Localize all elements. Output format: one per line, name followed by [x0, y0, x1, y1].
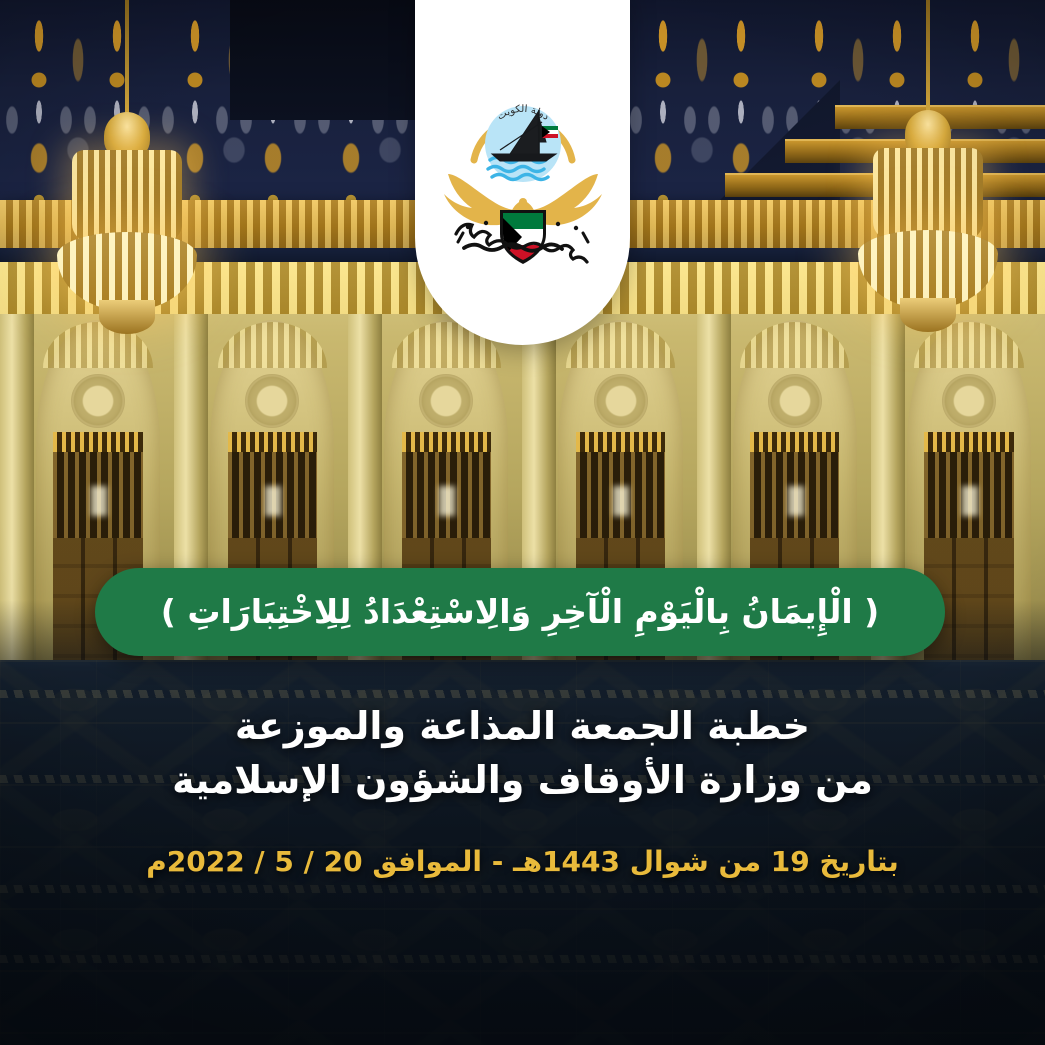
kuwait-state-emblem: دولة الكويت [438, 82, 608, 272]
emblem-banner: دولة الكويت [415, 0, 630, 345]
sermon-title-banner: ( الْإِيمَانُ بِالْيَوْمِ الْآخِرِ وَالِ… [95, 568, 945, 656]
subtitle-line-2: من وزارة الأوقاف والشؤون الإسلامية [0, 754, 1045, 808]
sermon-title-text: ( الْإِيمَانُ بِالْيَوْمِ الْآخِرِ وَالِ… [147, 591, 893, 632]
sermon-date: بتاريخ 19 من شوال 1443هـ - الموافق 20 / … [0, 845, 1045, 878]
subtitle-line-1: خطبة الجمعة المذاعة والموزعة [0, 700, 1045, 754]
sermon-poster: دولة الكويت [0, 0, 1045, 1045]
subtitle-block: خطبة الجمعة المذاعة والموزعة من وزارة ال… [0, 700, 1045, 808]
